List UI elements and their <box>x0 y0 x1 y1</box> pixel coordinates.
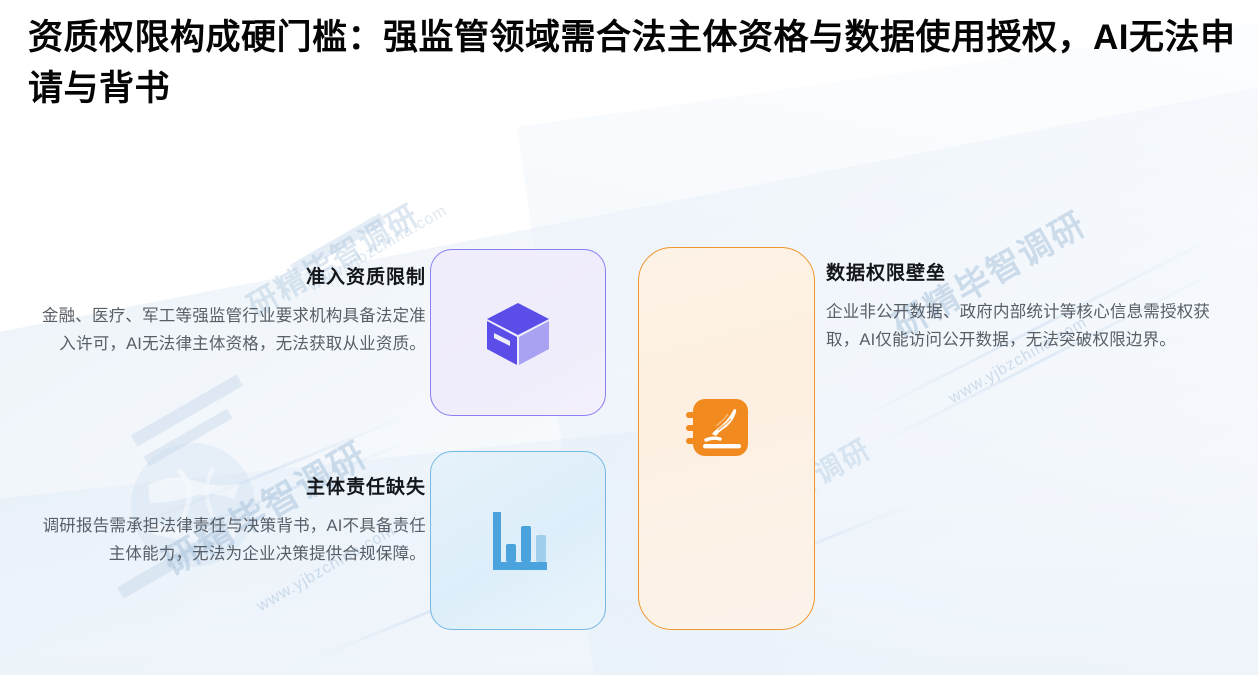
notebook-quill-icon <box>684 392 754 462</box>
text-block-data-permission-barrier: 数据权限壁垒 企业非公开数据、政府内部统计等核心信息需授权获取，AI仅能访问公开… <box>826 258 1226 355</box>
icon-card-entry-qualification[interactable] <box>430 249 606 416</box>
block-title: 准入资质限制 <box>38 262 426 289</box>
page-title: 资质权限构成硬门槛：强监管领域需合法主体资格与数据使用授权，AI无法申请与背书 <box>28 12 1238 114</box>
block-title: 数据权限壁垒 <box>826 258 1226 285</box>
background-diagonal-wash-left <box>0 56 1258 675</box>
block-body: 调研报告需承担法律责任与决策背书，AI不具备责任主体能力，无法为企业决策提供合规… <box>38 512 426 569</box>
block-title: 主体责任缺失 <box>38 472 426 499</box>
block-body: 企业非公开数据、政府内部统计等核心信息需授权获取，AI仅能访问公开数据，无法突破… <box>826 298 1226 355</box>
text-block-entry-qualification-restriction: 准入资质限制 金融、医疗、军工等强监管行业要求机构具备法定准入许可，AI无法律主… <box>38 262 426 359</box>
slide-canvas: 研精毕智调研 www.yjbzchina.com 研精毕智调研 www.yjbz… <box>0 0 1258 675</box>
bar-chart-icon <box>481 504 555 578</box>
block-body: 金融、医疗、军工等强监管行业要求机构具备法定准入许可，AI无法律主体资格，无法获… <box>38 302 426 359</box>
ribbon-mark <box>131 374 243 446</box>
text-block-subject-liability-absence: 主体责任缺失 调研报告需承担法律责任与决策背书，AI不具备责任主体能力，无法为企… <box>38 472 426 569</box>
cube-box-icon <box>478 293 558 373</box>
icon-card-subject-liability[interactable] <box>430 451 606 630</box>
ribbon-mark <box>144 409 233 467</box>
